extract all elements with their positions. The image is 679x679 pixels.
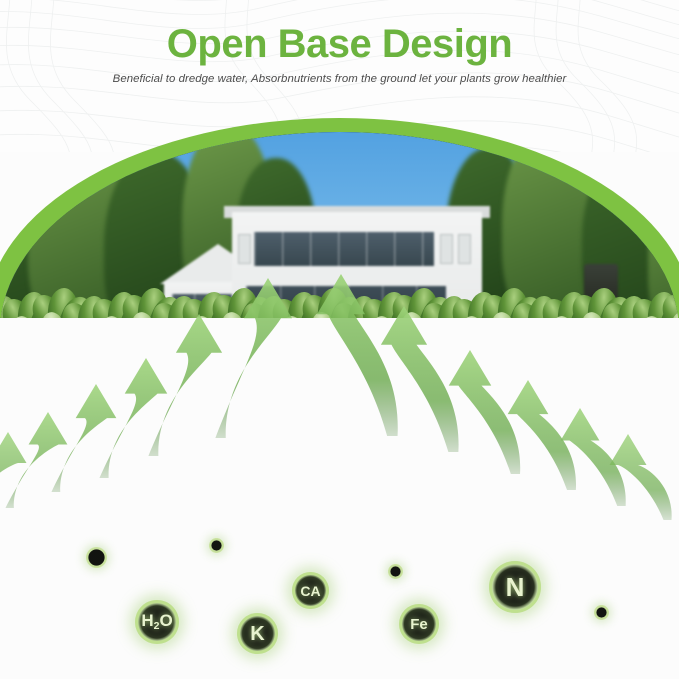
nutrient-bubble-k: K — [237, 613, 278, 654]
bok-choy-row — [0, 268, 679, 318]
house-small-window — [238, 234, 251, 264]
product-scene — [0, 118, 679, 679]
page-subtitle: Beneficial to dredge water, Absorbnutrie… — [0, 73, 679, 85]
house-small-window — [458, 234, 471, 264]
bubble-ring — [594, 605, 609, 620]
arch-photo-mask — [0, 132, 679, 318]
nutrient-bubble-empty — [209, 538, 224, 553]
bubble-ring — [388, 564, 403, 579]
nutrient-label: K — [250, 624, 264, 644]
nutrient-bubble-empty — [86, 547, 107, 568]
page-title: Open Base Design — [0, 24, 679, 64]
nutrient-label: H2O — [141, 612, 172, 631]
nutrient-bubble-n: N — [489, 561, 541, 613]
house-upper-windows — [254, 232, 434, 266]
nutrient-bubble-empty — [594, 605, 609, 620]
bok-choy-plant — [662, 288, 679, 318]
promo-image-stage: Open Base Design Beneficial to dredge wa… — [0, 0, 679, 679]
nutrient-bubble-ca: CA — [292, 572, 329, 609]
nutrient-bubble-empty — [388, 564, 403, 579]
green-arch-band — [0, 118, 679, 318]
nutrient-label: N — [506, 574, 525, 600]
bubble-ring — [209, 538, 224, 553]
scene-photo — [0, 132, 679, 318]
bubble-ring — [86, 547, 107, 568]
nutrient-bubble-fe: Fe — [399, 604, 439, 644]
house-small-window — [440, 234, 453, 264]
nutrient-label: CA — [300, 584, 320, 598]
nutrient-bubble-h2o: H2O — [135, 600, 179, 644]
nutrient-label: Fe — [410, 617, 428, 632]
